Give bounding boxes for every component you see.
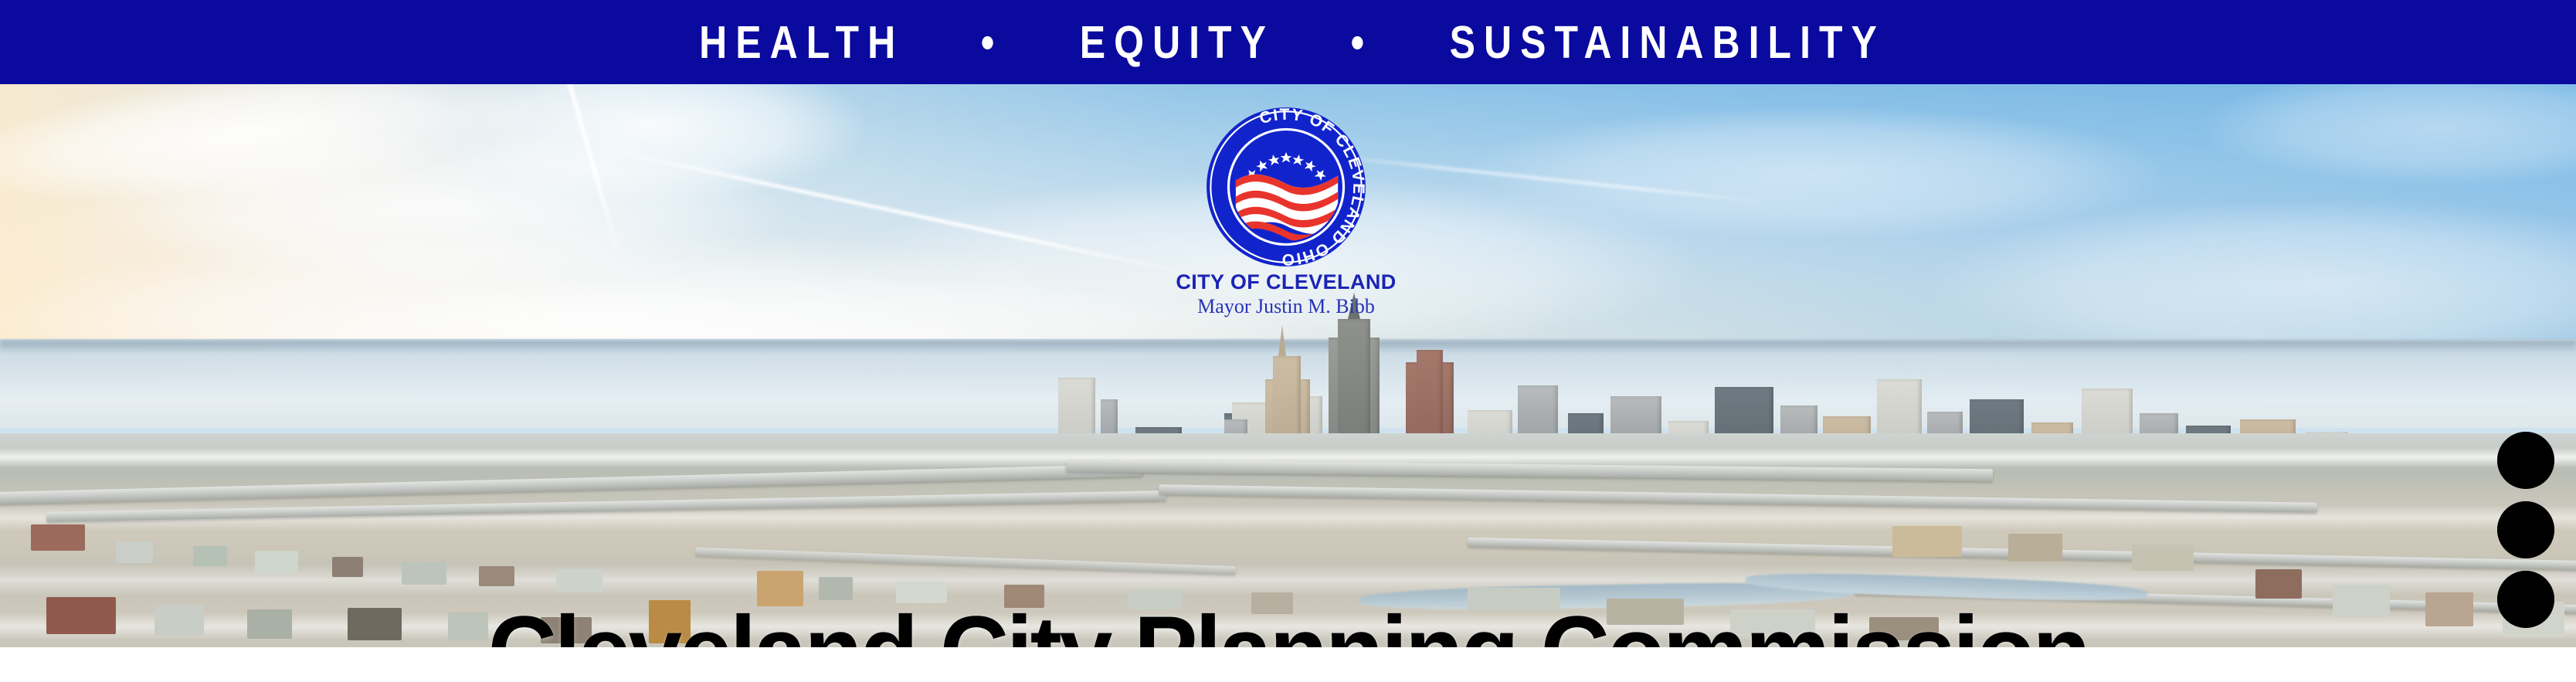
building-block	[193, 546, 227, 566]
instagram-link[interactable]	[2497, 501, 2554, 558]
social-links	[2497, 432, 2556, 640]
building-block	[1892, 526, 1962, 557]
terminal-tower-spire	[1278, 325, 1286, 356]
building-block	[556, 569, 602, 592]
city-logo-lockup[interactable]: CITY OF CLEVELAND OHIO	[1124, 92, 1448, 317]
mayor-name-label: Mayor Justin M. Bibb	[1124, 296, 1448, 317]
instagram-icon	[2497, 501, 2554, 558]
building-block	[31, 524, 85, 551]
facebook-link[interactable]	[2497, 571, 2554, 628]
building-block	[255, 551, 298, 574]
city-name-label: CITY OF CLEVELAND	[1124, 271, 1448, 293]
page-title: Cleveland City Planning Commission	[0, 604, 2576, 647]
page-root: HEALTH • EQUITY • SUSTAINABILITY	[0, 0, 2576, 682]
building-block	[332, 557, 363, 577]
bottom-white-strip	[0, 647, 2576, 682]
building-block	[2255, 569, 2302, 599]
hero-photo: CITY OF CLEVELAND OHIO	[0, 84, 2576, 647]
tagline-text: HEALTH • EQUITY • SUSTAINABILITY	[691, 19, 1885, 65]
building-block	[116, 541, 153, 563]
tagline-banner: HEALTH • EQUITY • SUSTAINABILITY	[0, 0, 2576, 84]
building-block	[2132, 545, 2194, 571]
building-block	[402, 562, 446, 585]
youtube-icon	[2497, 432, 2554, 489]
building-block	[479, 566, 514, 586]
facebook-icon	[2497, 571, 2554, 628]
building-block	[2008, 534, 2062, 562]
city-of-cleveland-seal: CITY OF CLEVELAND OHIO	[1205, 106, 1367, 268]
youtube-link[interactable]	[2497, 432, 2554, 489]
